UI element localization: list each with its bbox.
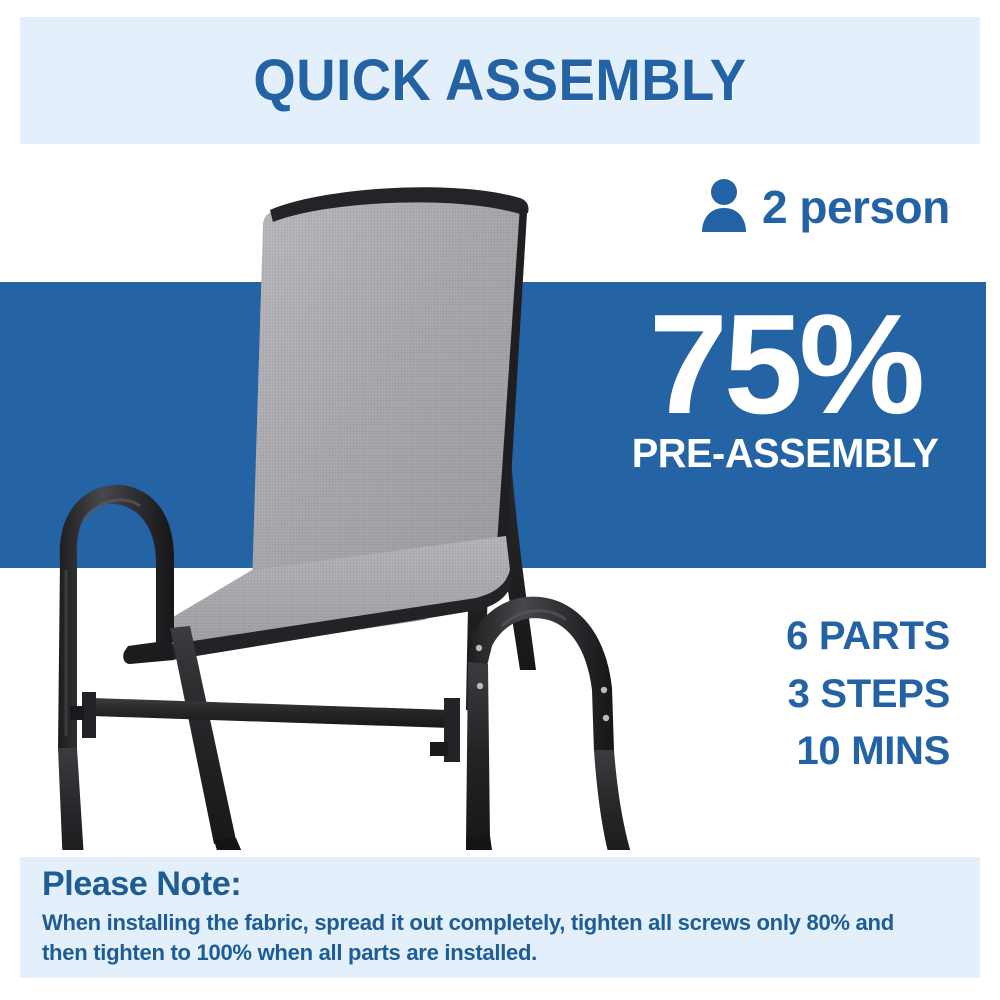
rivet [476, 645, 482, 651]
assembly-stats-list: 6 PARTS 3 STEPS 10 MINS [786, 608, 950, 781]
stat-steps: 3 STEPS [786, 666, 950, 724]
assembly-infographic: QUICK ASSEMBLY [0, 0, 1000, 1000]
rivet [601, 687, 607, 693]
pre-assembly-percent: 75% [600, 300, 970, 431]
rivet [477, 683, 483, 689]
stat-mins: 10 MINS [786, 723, 950, 781]
pre-assembly-caption: PRE-ASSEMBLY [606, 433, 965, 474]
chair-left-rear-leg [170, 626, 236, 844]
chair-cross-brace [92, 698, 450, 728]
note-title: Please Note: [42, 866, 241, 903]
chair-right-front-leg [594, 750, 638, 850]
chair-left-front-leg [58, 748, 86, 850]
product-image-patio-chair [20, 150, 650, 850]
page-title: QUICK ASSEMBLY [49, 17, 951, 144]
person-icon [700, 177, 748, 238]
pre-assembly-block: 75% PRE-ASSEMBLY [600, 300, 970, 474]
rivet [603, 715, 609, 721]
person-capacity-row: 2 person [700, 172, 960, 242]
note-body: When installing the fabric, spread it ou… [42, 908, 934, 968]
chair-right-armrest [467, 597, 614, 752]
stat-parts: 6 PARTS [786, 608, 950, 666]
person-capacity-label: 2 person [762, 184, 950, 230]
chair-right-rear-leg [466, 662, 490, 842]
